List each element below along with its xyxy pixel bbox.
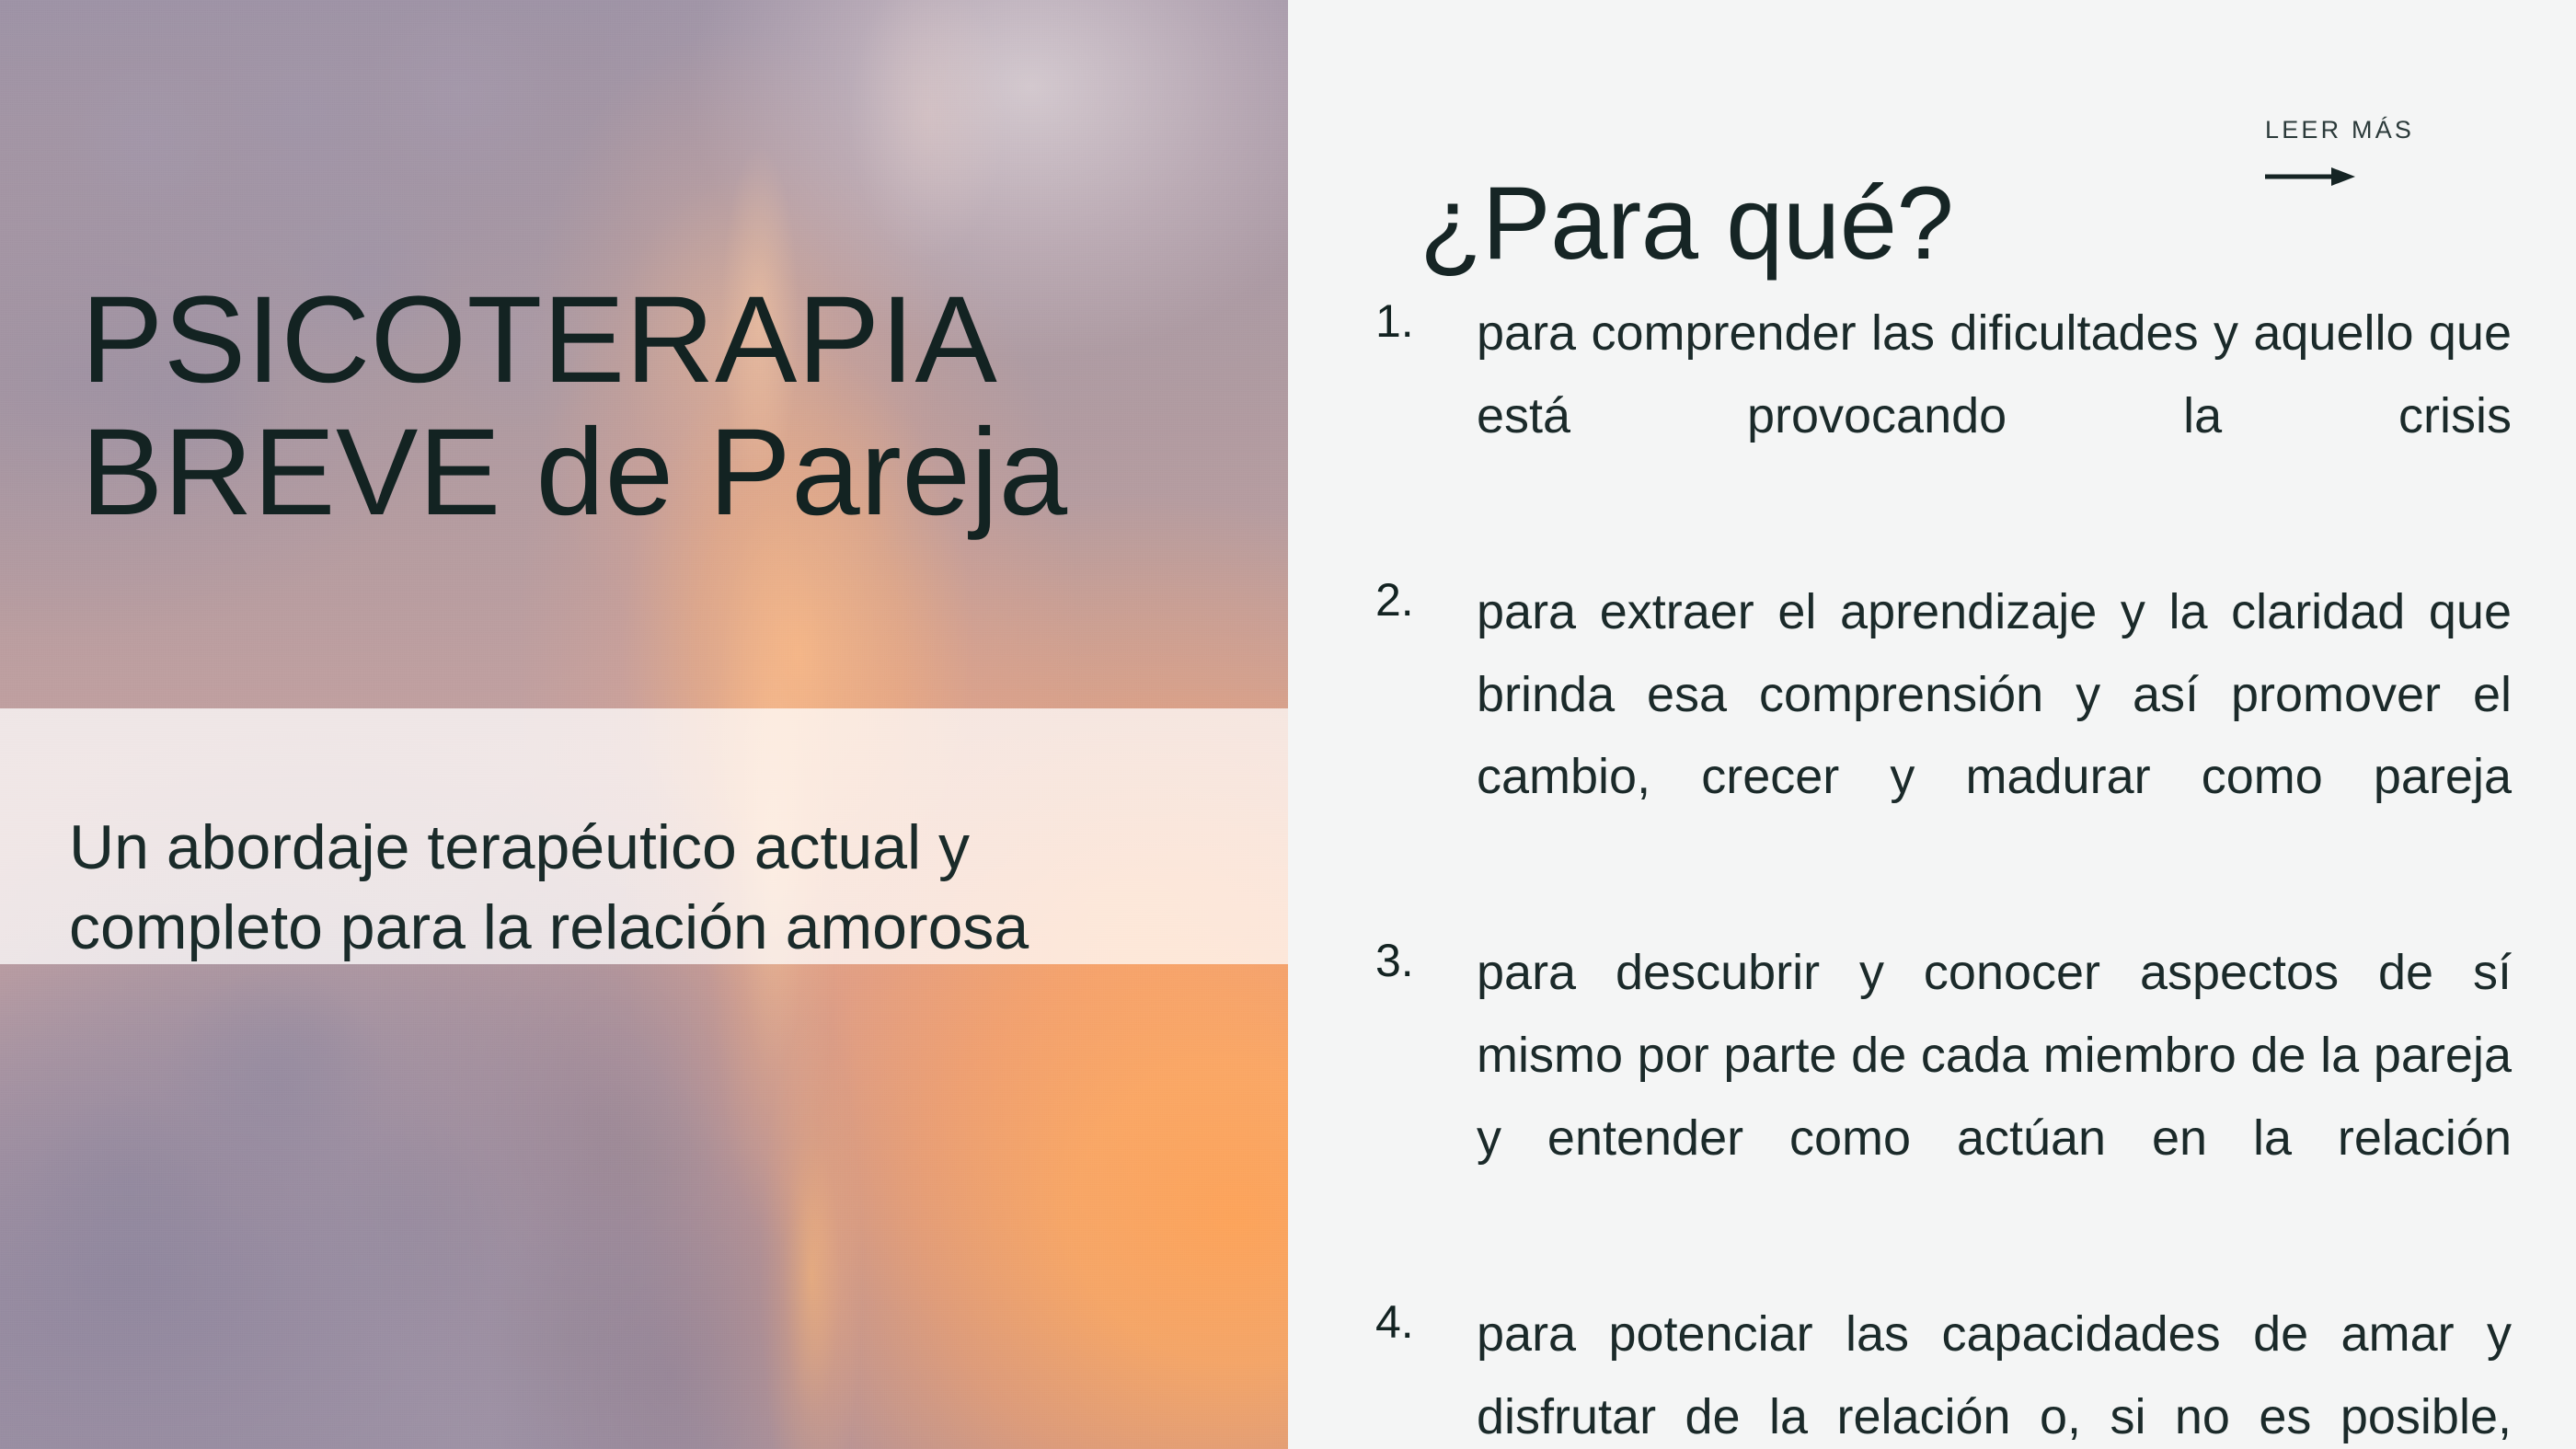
list-item-text: para extraer el aprendizaje y la clarida… bbox=[1477, 571, 2512, 902]
hero-title: PSICOTERAPIA BREVE de Pareja bbox=[81, 274, 1259, 540]
section-heading: ¿Para qué? bbox=[1420, 167, 1953, 280]
content-panel: ¿Para qué? LEER MÁS 1. para comprender l… bbox=[1288, 0, 2576, 1449]
hero-subtitle: Un abordaje terapéutico actual y complet… bbox=[69, 808, 1228, 968]
list-item-number: 4. bbox=[1375, 1299, 1455, 1345]
list-item-number: 1. bbox=[1375, 298, 1455, 344]
read-more-label: LEER MÁS bbox=[2265, 118, 2477, 143]
list-item-number: 3. bbox=[1375, 937, 1455, 983]
subtitle-band: Un abordaje terapéutico actual y complet… bbox=[0, 708, 1288, 964]
list-item: 3. para descubrir y conocer aspectos de … bbox=[1288, 932, 2576, 1262]
read-more-link[interactable]: LEER MÁS bbox=[2265, 118, 2477, 189]
list-item-text: para comprender las dificultades y aquel… bbox=[1477, 293, 2512, 540]
arrow-right-icon bbox=[2265, 165, 2355, 189]
list-item: 4. para potenciar las capacidades de ama… bbox=[1288, 1294, 2576, 1449]
hero-image-panel: PSICOTERAPIA BREVE de Pareja Un abordaje… bbox=[0, 0, 1288, 1449]
content-header: ¿Para qué? LEER MÁS bbox=[1288, 0, 2576, 276]
points-list: 1. para comprender las dificultades y aq… bbox=[1288, 293, 2576, 1449]
slide-root: PSICOTERAPIA BREVE de Pareja Un abordaje… bbox=[0, 0, 2576, 1449]
list-item-text: para potenciar las capacidades de amar y… bbox=[1477, 1294, 2512, 1449]
list-item: 1. para comprender las dificultades y aq… bbox=[1288, 293, 2576, 540]
list-item: 2. para extraer el aprendizaje y la clar… bbox=[1288, 571, 2576, 902]
list-item-text: para descubrir y conocer aspectos de sí … bbox=[1477, 932, 2512, 1262]
list-item-number: 2. bbox=[1375, 577, 1455, 623]
